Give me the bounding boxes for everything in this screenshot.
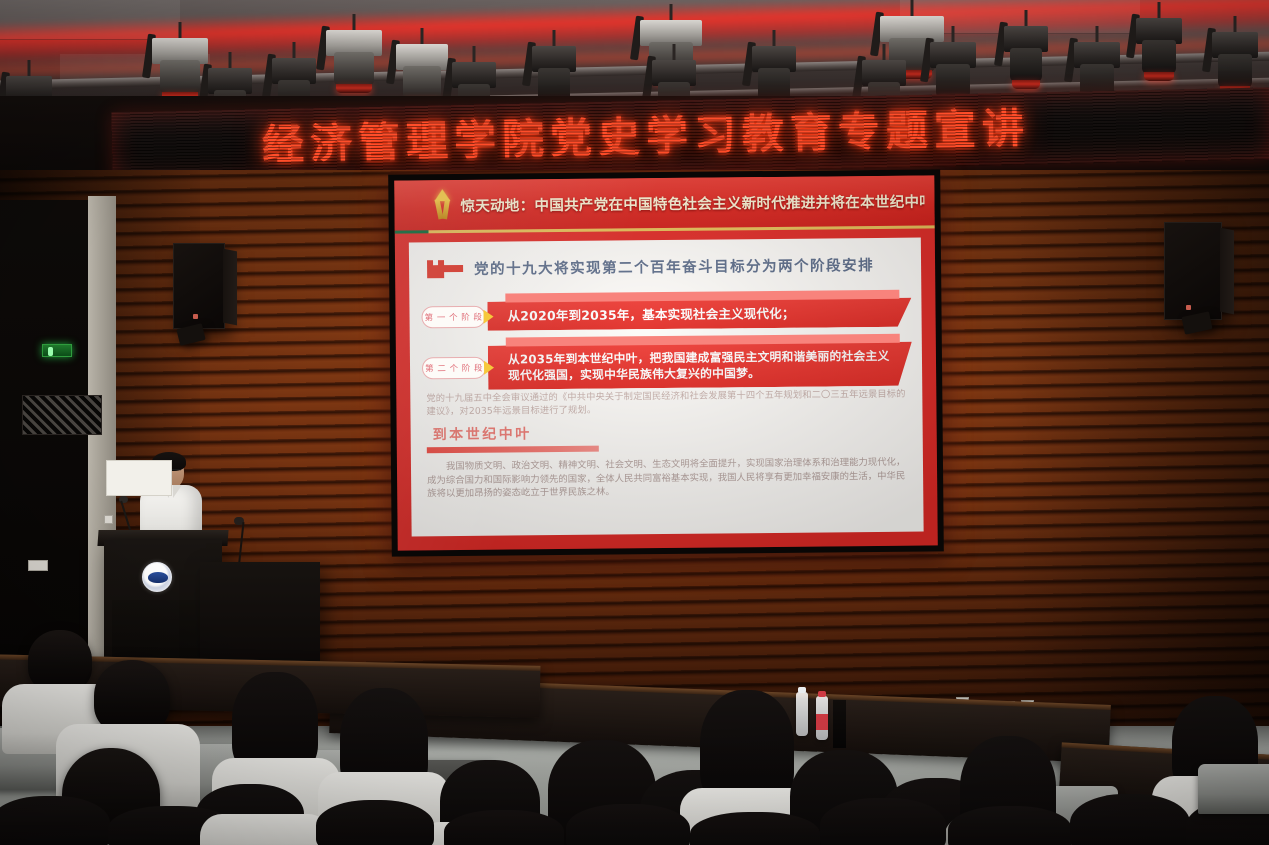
- stage-one-arrow-icon: [483, 309, 493, 323]
- audience-member: [948, 806, 1072, 845]
- audience-member: [566, 804, 690, 845]
- slide-paragraph-body: 我国物质文明、政治文明、精神文明、社会文明、生态文明将全面提升，实现国家治理体系…: [427, 456, 907, 501]
- wall-sign: [28, 560, 48, 571]
- stage-one-chip: 第 一 个 阶 段: [421, 305, 485, 328]
- slide-heading-row: 党的十九大将实现第二个百年奋斗目标分为两个阶段安排: [427, 254, 905, 280]
- stage-two-row: 第 二 个 阶 段 从2035年到本世纪中叶，把我国建成富强民主文明和谐美丽的社…: [422, 342, 912, 391]
- audience-member: [0, 796, 110, 845]
- audience-member: [820, 798, 946, 845]
- auditorium-photo: 经济管理学院党史学习教育专题宣讲 惊天动地：中国共产党在中国特色社会主义新时代推…: [0, 0, 1269, 845]
- stage-one-text: 从2020年到2035年，基本实现社会主义现代化；: [487, 298, 911, 331]
- slide-paragraph-faint: 党的十九届五中全会审议通过的《中共中央关于制定国民经济和社会发展第十四个五年规划…: [426, 388, 906, 419]
- stage-two-chip: 第 二 个 阶 段: [422, 357, 486, 380]
- auditorium-seat[interactable]: [1198, 764, 1269, 814]
- audience-area: [0, 600, 1269, 845]
- wall-plate: [104, 515, 113, 524]
- stage-two-text: 从2035年到本世纪中叶，把我国建成富强民主文明和谐美丽的社会主义现代化强国，实…: [488, 342, 912, 390]
- water-bottle[interactable]: [816, 696, 828, 740]
- audience-member: [28, 630, 92, 692]
- slide-heading-text: 党的十九大将实现第二个百年奋斗目标分为两个阶段安排: [474, 254, 874, 279]
- audience-member: [316, 800, 434, 845]
- water-bottle[interactable]: [796, 692, 808, 736]
- university-emblem-icon: [142, 562, 172, 592]
- slide-subheading: 到本世纪中叶: [433, 423, 532, 444]
- audience-member-body: [200, 814, 330, 845]
- audience-member: [690, 812, 820, 845]
- projection-screen: 惊天动地：中国共产党在中国特色社会主义新时代推进并将在本世纪中叶实现强国大业 党…: [388, 169, 944, 556]
- slide-content-panel: 党的十九大将实现第二个百年奋斗目标分为两个阶段安排 第 一 个 阶 段 从202…: [409, 238, 924, 537]
- audience-member: [444, 810, 564, 845]
- table-object: [833, 700, 846, 748]
- wall-notice-board: [106, 460, 172, 496]
- presentation-slide: 惊天动地：中国共产党在中国特色社会主义新时代推进并将在本世纪中叶实现强国大业 党…: [394, 175, 938, 550]
- stage-one-row: 第 一 个 阶 段 从2020年到2035年，基本实现社会主义现代化；: [421, 298, 911, 332]
- slide-subheading-underline: [427, 446, 599, 454]
- ventilation-grille-icon: [22, 395, 102, 435]
- wall-speaker-right: [1164, 222, 1222, 320]
- slide-header-bar: 惊天动地：中国共产党在中国特色社会主义新时代推进并将在本世纪中叶实现强国大业: [394, 175, 934, 230]
- slide-header-title: 惊天动地：中国共产党在中国特色社会主义新时代推进并将在本世纪中叶实现强国大业: [460, 176, 924, 230]
- led-banner-text: 经济管理学院党史学习教育专题宣讲: [261, 90, 1262, 180]
- audience-member: [1070, 794, 1190, 845]
- party-star-emblem-icon: [430, 187, 456, 221]
- wall-speaker-left: [173, 243, 225, 329]
- pointing-hand-icon: [427, 258, 463, 278]
- audience-member: [94, 660, 170, 734]
- stage-two-arrow-icon: [484, 361, 494, 375]
- exit-sign-icon: [42, 344, 72, 357]
